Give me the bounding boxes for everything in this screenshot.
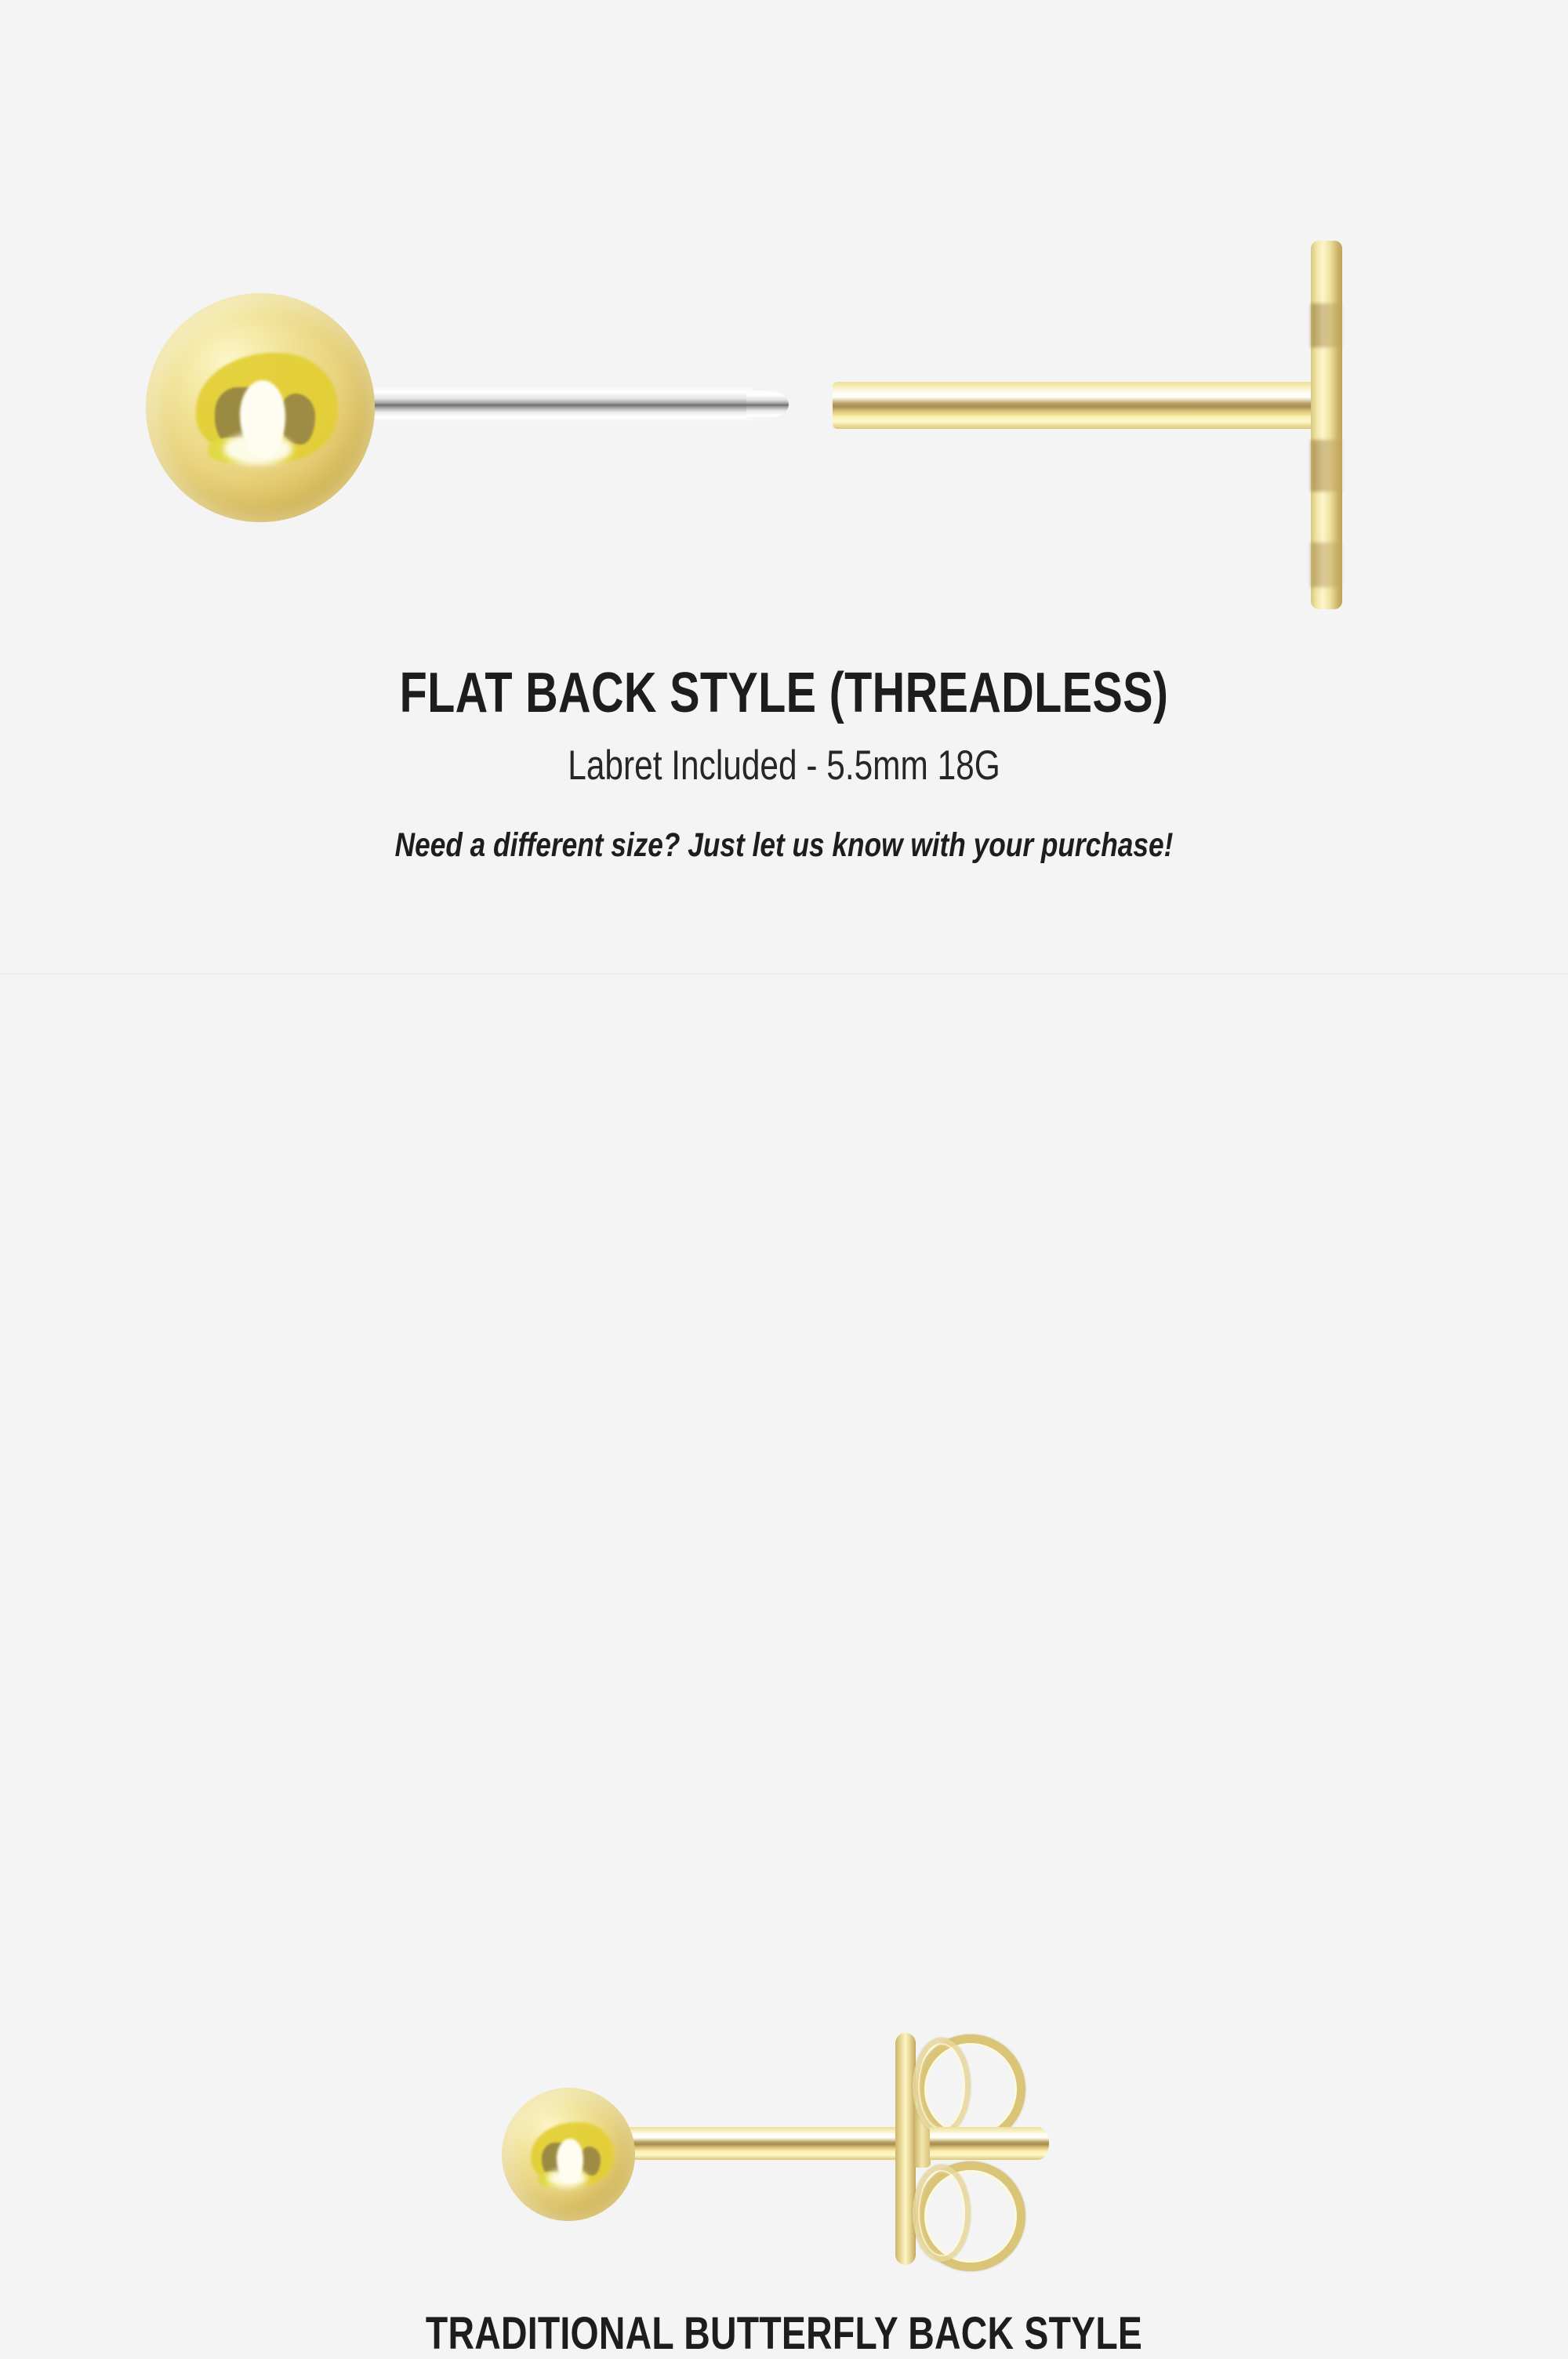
flat-back-heading: FLAT BACK STYLE (THREADLESS) (157, 665, 1411, 721)
butterfly-back-heading: TRADITIONAL BUTTERFLY BACK STYLE (157, 2311, 1411, 2357)
labret-flat-disc (1311, 241, 1342, 609)
clutch-loop-lower-coil (913, 2165, 971, 2262)
butterfly-back-product-illustration (0, 974, 1568, 1335)
clutch-loop-upper-coil (913, 2038, 971, 2135)
stud-ball-rim-glow (502, 2088, 635, 2221)
disc-shading-bottom (1311, 543, 1342, 586)
clutch-loop-lower-coil-highlight (918, 2170, 965, 2256)
section-butterfly-back-style: TRADITIONAL BUTTERFLY BACK STYLE (0, 974, 1568, 1568)
flat-back-subheading: Labret Included - 5.5mm 18G (157, 745, 1411, 786)
disc-shading-top (1311, 303, 1342, 347)
ball-rim-glow (146, 293, 375, 522)
silver-pin-tip (746, 390, 789, 419)
labret-gold-post (833, 382, 1319, 429)
clutch-loop-upper-coil-highlight (918, 2043, 965, 2129)
flat-back-product-illustration (0, 0, 1568, 635)
gold-ball-end (146, 293, 375, 522)
disc-shading-middle (1311, 440, 1342, 492)
infographic-page: FLAT BACK STYLE (THREADLESS) Labret Incl… (0, 0, 1568, 1568)
flat-back-size-note: Need a different size? Just let us know … (141, 829, 1427, 862)
stud-gold-ball-head (502, 2088, 635, 2221)
silver-pin-shaft (314, 387, 753, 422)
section-flat-back-style: FLAT BACK STYLE (THREADLESS) Labret Incl… (0, 0, 1568, 974)
stud-post-through-clutch (930, 2127, 1049, 2160)
